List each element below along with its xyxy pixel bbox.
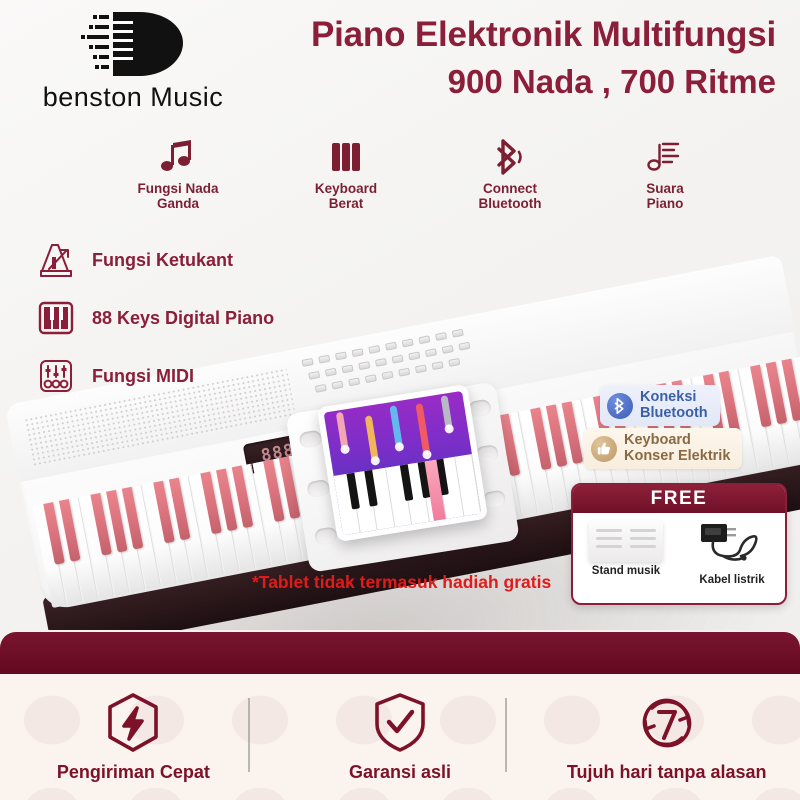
badge-line-2: Bluetooth (640, 405, 708, 421)
falling-note-bar (365, 415, 379, 462)
free-item-caption: Kabel listrik (699, 574, 764, 586)
left-feature-88-keys: 88 Keys Digital Piano (30, 290, 330, 346)
brand-logo: benston Music (18, 8, 248, 113)
panel-button[interactable] (408, 351, 420, 360)
free-gift-box: FREE Stand musik (571, 483, 787, 605)
left-feature-label: Fungsi Ketukant (92, 250, 233, 271)
badge-keyboard-konser: Keyboard Konser Elektrik (584, 428, 742, 469)
page-title: Piano Elektronik Multifungsi 900 Nada , … (250, 14, 790, 102)
trust-item-warranty: Garansi asli (267, 674, 534, 800)
badge-line-1: Koneksi (640, 389, 696, 405)
trust-item-return: Tujuh hari tanpa alasan (533, 674, 800, 800)
trust-label: Pengiriman Cepat (57, 762, 210, 783)
thumbs-up-circle-icon (591, 436, 617, 462)
panel-button[interactable] (415, 364, 427, 373)
piano-keys-outline-icon (30, 299, 82, 337)
title-line-2: 900 Nada , 700 Ritme (250, 61, 776, 102)
panel-button[interactable] (392, 355, 404, 364)
panel-button[interactable] (352, 348, 364, 357)
lightning-bolt-shield-icon (104, 692, 162, 754)
falling-note-bar (336, 412, 349, 451)
falling-note-bar (440, 395, 452, 430)
disclaimer-text: *Tablet tidak termasuk hadiah gratis (252, 572, 551, 593)
panel-button[interactable] (458, 342, 470, 351)
tablet-device (317, 384, 488, 542)
double-music-note-icon (113, 136, 243, 178)
panel-button[interactable] (448, 358, 460, 367)
bluetooth-signal-icon (445, 136, 575, 178)
trust-label: Tujuh hari tanpa alasan (567, 762, 767, 783)
grand-piano-logo-icon (69, 8, 197, 80)
stand-slot (314, 526, 338, 545)
panel-button[interactable] (398, 368, 410, 377)
banner-body: Pengiriman Cepat Garansi asli (0, 674, 800, 800)
power-cable-icon (693, 520, 771, 571)
badge-text: Keyboard Konser Elektrik (624, 433, 730, 464)
badge-koneksi-bluetooth: Koneksi Bluetooth (600, 385, 720, 426)
panel-button[interactable] (402, 338, 414, 347)
panel-button[interactable] (368, 345, 380, 354)
free-item-stand: Stand musik (573, 513, 679, 605)
panel-button[interactable] (365, 374, 377, 383)
panel-button[interactable] (358, 361, 370, 370)
badge-line-2: Konser Elektrik (624, 448, 730, 464)
panel-button[interactable] (432, 361, 444, 370)
stand-slot (298, 430, 322, 449)
panel-button[interactable] (375, 358, 387, 367)
brand-name: benston Music (18, 82, 248, 113)
check-shield-icon (372, 692, 428, 754)
free-header: FREE (573, 485, 785, 513)
panel-button[interactable] (425, 348, 437, 357)
free-item-cable: Kabel listrik (679, 513, 785, 605)
badge-text: Koneksi Bluetooth (640, 390, 708, 421)
title-line-1: Piano Elektronik Multifungsi (250, 14, 776, 57)
note-soundwave-icon (600, 136, 730, 178)
left-feature-list: Fungsi Ketukant 88 Keys Digital Piano (30, 232, 330, 406)
free-items: Stand musik Kabel listrik (573, 513, 785, 605)
music-stand-icon (589, 520, 663, 562)
falling-note-bar (415, 403, 430, 455)
left-feature-label: 88 Keys Digital Piano (92, 308, 274, 329)
left-feature-midi: Fungsi MIDI (30, 348, 330, 404)
midi-mixer-icon (30, 357, 82, 395)
panel-button[interactable] (435, 332, 447, 341)
panel-button[interactable] (418, 335, 430, 344)
left-feature-label: Fungsi MIDI (92, 366, 194, 387)
music-stand-with-tablet (283, 373, 540, 597)
free-item-caption: Stand musik (592, 565, 660, 577)
badge-line-1: Keyboard (624, 432, 691, 448)
bluetooth-circle-icon (607, 393, 633, 419)
trust-label: Garansi asli (349, 762, 451, 783)
seven-day-return-icon (634, 692, 700, 754)
bottom-trust-banner: Pengiriman Cepat Garansi asli (0, 632, 800, 800)
metronome-icon (30, 241, 82, 279)
falling-note-bar (389, 405, 402, 448)
left-feature-metronome: Fungsi Ketukant (30, 232, 330, 288)
banner-divider (248, 698, 250, 772)
panel-button[interactable] (442, 345, 454, 354)
panel-button[interactable] (385, 342, 397, 351)
trust-item-shipping: Pengiriman Cepat (0, 674, 267, 800)
panel-button[interactable] (348, 377, 360, 386)
panel-button[interactable] (342, 364, 354, 373)
panel-button[interactable] (381, 371, 393, 380)
product-advertisement-page: benston Music Piano Elektronik Multifung… (0, 0, 800, 800)
panel-button[interactable] (335, 351, 347, 360)
piano-keys-icon (281, 136, 411, 178)
panel-button[interactable] (331, 381, 343, 390)
banner-top-bar (0, 632, 800, 674)
stand-slot (306, 479, 330, 498)
piano-learning-app-screen (324, 391, 482, 535)
banner-divider (505, 698, 507, 772)
panel-button[interactable] (452, 329, 464, 338)
